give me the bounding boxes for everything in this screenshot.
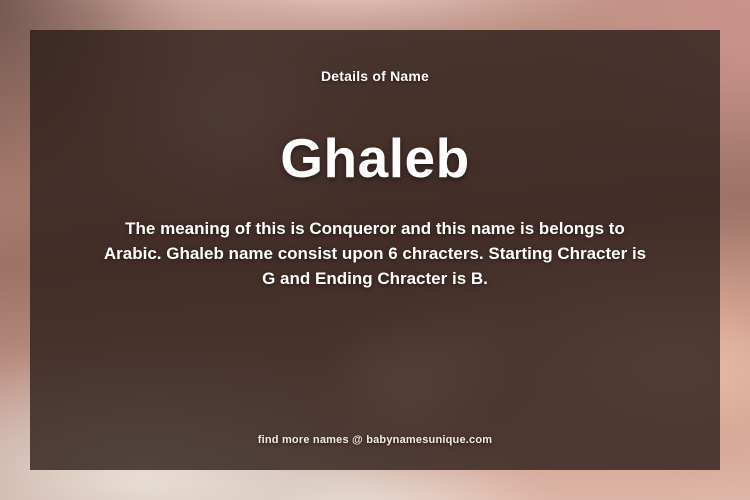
name-meaning-description: The meaning of this is Conqueror and thi… xyxy=(102,216,648,291)
page-title: Details of Name xyxy=(30,68,720,84)
baby-name-heading: Ghaleb xyxy=(30,130,720,188)
name-detail-card: Details of Name Ghaleb The meaning of th… xyxy=(0,0,750,500)
site-footer-credit: find more names @ babynamesunique.com xyxy=(30,434,720,446)
details-overlay-panel: Details of Name Ghaleb The meaning of th… xyxy=(30,30,720,470)
